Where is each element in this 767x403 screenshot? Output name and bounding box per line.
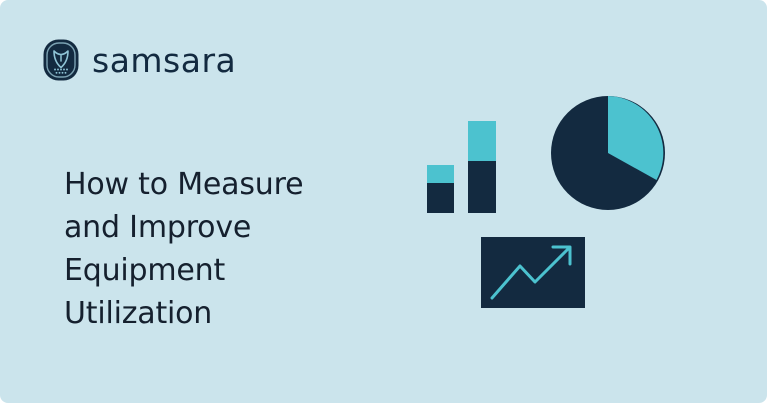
page-title-line-2: and Improve xyxy=(64,206,384,249)
pie-chart-icon xyxy=(551,96,665,210)
page-title-line-1: How to Measure xyxy=(64,163,384,206)
page-title-line-4: Utilization xyxy=(64,292,384,335)
trend-line-chart-icon xyxy=(481,237,585,308)
brand-wordmark: samsara xyxy=(92,44,236,77)
bar-left xyxy=(427,165,454,213)
analytics-illustration xyxy=(410,80,700,330)
samsara-owl-logo-icon xyxy=(42,38,80,82)
brand-lockup: samsara xyxy=(42,38,236,82)
page-title-line-3: Equipment xyxy=(64,249,384,292)
bar-chart-icon xyxy=(427,121,496,213)
article-cover-card: samsara How to Measure and Improve Equip… xyxy=(0,0,767,403)
bar-right xyxy=(468,121,496,213)
page-title: How to Measure and Improve Equipment Uti… xyxy=(64,163,384,335)
